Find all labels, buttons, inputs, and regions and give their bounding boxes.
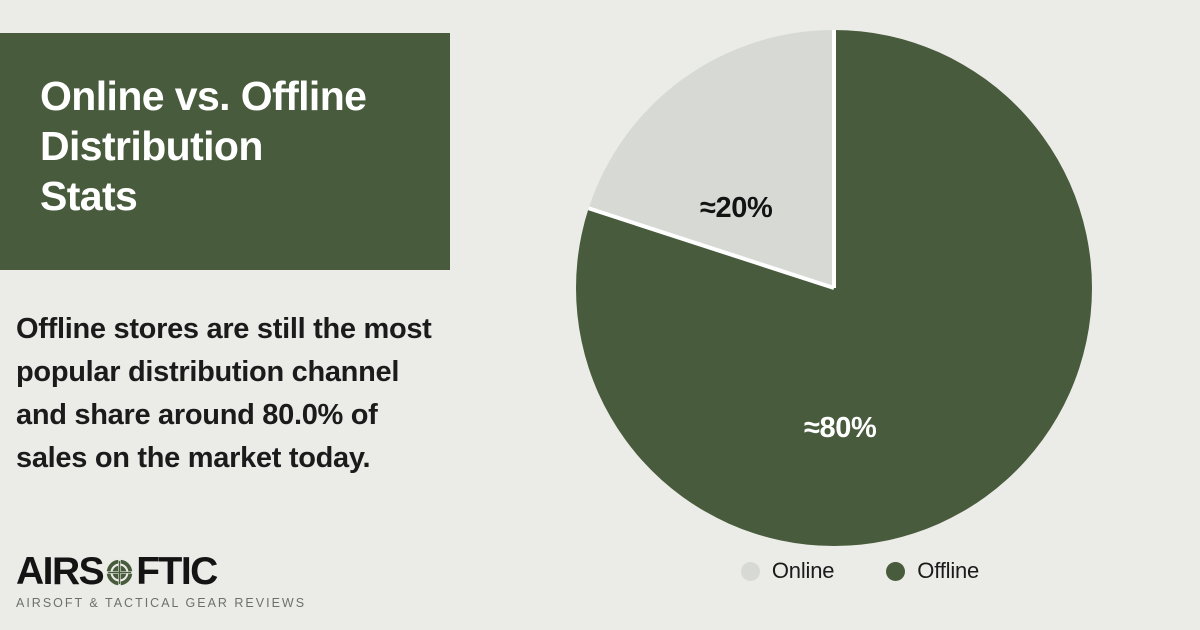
- site-logo[interactable]: AIRS FTIC AIRSOFT & TACTICAL GEAR REVIEW…: [16, 551, 306, 610]
- legend-swatch-online: [741, 562, 760, 581]
- chart-legend: Online Offline: [520, 560, 1200, 582]
- left-content-column: Online vs. Offline Distribution Stats Of…: [0, 0, 470, 630]
- logo-text-after: FTIC: [136, 552, 217, 591]
- legend-label-online: Online: [772, 560, 834, 582]
- pie-label-online: ≈20%: [700, 192, 772, 225]
- logo-tagline: AIRSOFT & TACTICAL GEAR REVIEWS: [16, 596, 306, 610]
- legend-label-offline: Offline: [917, 560, 979, 582]
- pie-chart: ≈20% ≈80%: [576, 30, 1092, 546]
- logo-text-before: AIRS: [16, 552, 103, 591]
- legend-swatch-offline: [886, 562, 905, 581]
- page-title: Online vs. Offline Distribution Stats: [40, 71, 410, 221]
- pie-chart-svg: [576, 30, 1092, 546]
- title-block: Online vs. Offline Distribution Stats: [0, 33, 450, 270]
- body-block: Offline stores are still the most popula…: [16, 308, 440, 480]
- legend-item-online[interactable]: Online: [741, 560, 834, 582]
- pie-label-offline: ≈80%: [804, 412, 876, 445]
- logo-wordmark: AIRS FTIC: [16, 551, 306, 591]
- body-paragraph: Offline stores are still the most popula…: [16, 308, 440, 480]
- chart-area: ≈20% ≈80% Online Offline: [520, 0, 1200, 630]
- crosshair-icon: [104, 557, 135, 588]
- legend-item-offline[interactable]: Offline: [886, 560, 979, 582]
